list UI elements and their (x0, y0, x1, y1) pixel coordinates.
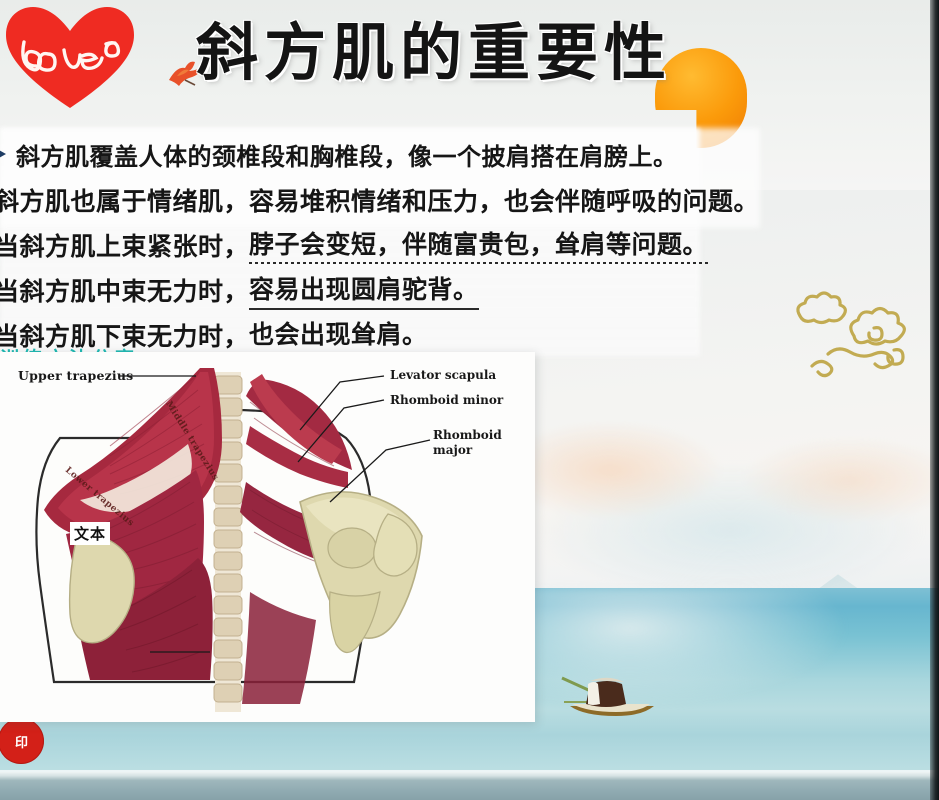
bottom-ledge (0, 772, 939, 800)
label-levator-scapula: Levator scapula (390, 368, 496, 382)
river-boat (560, 672, 690, 720)
arrow-bullet-icon (0, 143, 16, 165)
body-line-3: 当斜方肌上束紧张时， 脖子会变短，伴随富贵包，耸肩等问题。 (0, 222, 760, 267)
love-heart-logo (2, 4, 138, 116)
trapezius-anatomy-panel: Upper trapezius Levator scapula Rhomboid… (0, 352, 535, 722)
body-line-4: 当斜方肌中束无力时， 容易出现圆肩驼背。 (0, 267, 760, 312)
body-text-block: 斜方肌覆盖人体的颈椎段和胸椎段，像一个披肩搭在肩膀上。 斜方肌也属于情绪肌，容易… (0, 132, 760, 357)
auspicious-cloud-icon (782, 288, 932, 378)
line-4-segment-2-underlined: 容易出现圆肩驼背。 (249, 270, 479, 310)
page-title: 斜方肌的重要性 (196, 22, 672, 84)
body-line-2: 斜方肌也属于情绪肌，容易堆积情绪和压力，也会伴随呼吸的问题。 (0, 177, 760, 222)
label-rhomboid-major: Rhomboid major (433, 428, 513, 458)
label-rhomboid-minor: Rhomboid minor (390, 393, 503, 407)
body-line-1: 斜方肌覆盖人体的颈椎段和胸椎段，像一个披肩搭在肩膀上。 (0, 132, 760, 177)
line-3-segment-2-underlined: 脖子会变短，伴随富贵包，耸肩等问题。 (249, 225, 708, 264)
line-3-segment-1: 当斜方肌上束紧张时， (0, 227, 249, 263)
red-seal-stamp: 印 (0, 718, 44, 764)
seal-text: 印 (15, 732, 27, 751)
overlay-text-box: 文本 (70, 522, 110, 545)
line-4-segment-1: 当斜方肌中束无力时， (0, 272, 249, 308)
poster-canvas: 印 斜方肌的重要性 (0, 0, 939, 800)
line-1-segment-1: 斜方肌覆盖人体的颈椎段和胸椎段，像一个披肩搭在肩膀上。 (16, 137, 678, 172)
right-edge-strip (930, 0, 939, 800)
line-2-segment-1: 斜方肌也属于情绪肌，容易堆积情绪和压力，也会伴随呼吸的问题。 (0, 182, 759, 218)
label-upper-trapezius: Upper trapezius (18, 368, 133, 383)
